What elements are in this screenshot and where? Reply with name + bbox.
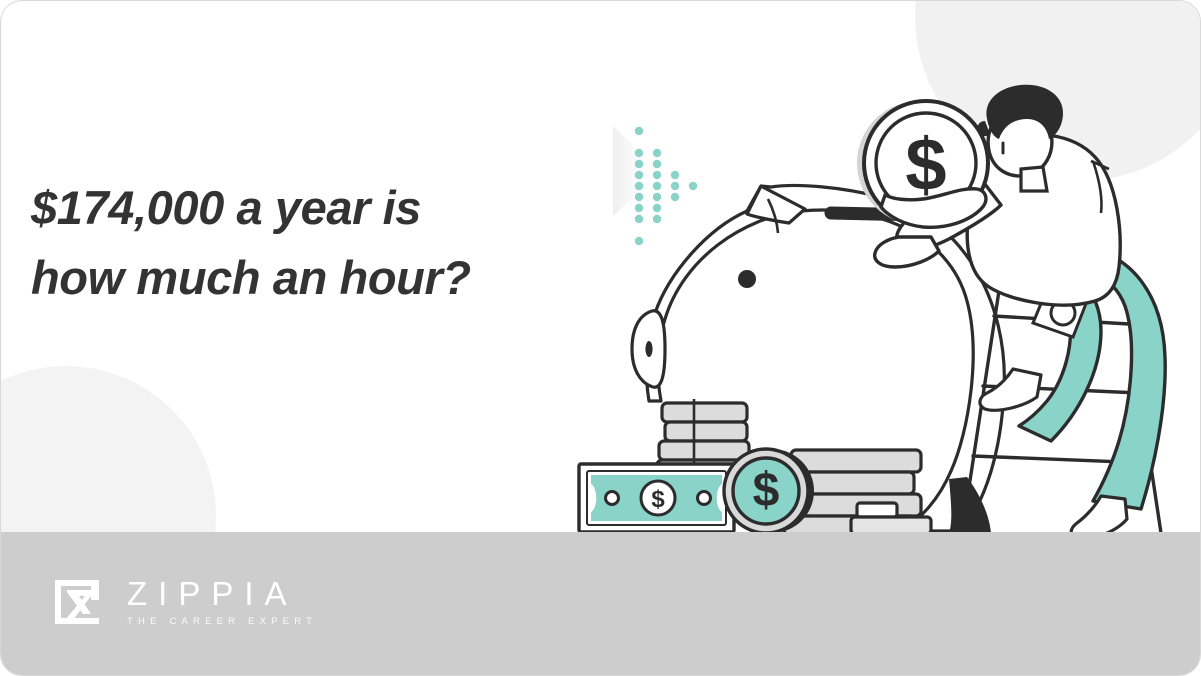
svg-text:$: $	[905, 123, 946, 206]
logo-tagline: THE CAREER EXPERT	[127, 617, 317, 627]
piggy-nostril	[645, 341, 652, 357]
logo-text: ZIPPIA THE CAREER EXPERT	[127, 577, 317, 627]
footer-bar: ZIPPIA THE CAREER EXPERT	[1, 532, 1200, 675]
logo-wordmark: ZIPPIA	[127, 577, 317, 610]
zippia-logo[interactable]: ZIPPIA THE CAREER EXPERT	[51, 576, 317, 628]
infographic-card: $174,000 a year is how much an hour?	[0, 0, 1201, 676]
faint-triangle-shape	[613, 126, 661, 216]
teal-coin: $	[724, 449, 814, 533]
banknote: $	[579, 464, 734, 532]
svg-text:$: $	[651, 486, 665, 513]
piggy-eye	[738, 270, 756, 288]
svg-text:$: $	[753, 464, 780, 517]
zippia-z-mark	[51, 576, 103, 628]
